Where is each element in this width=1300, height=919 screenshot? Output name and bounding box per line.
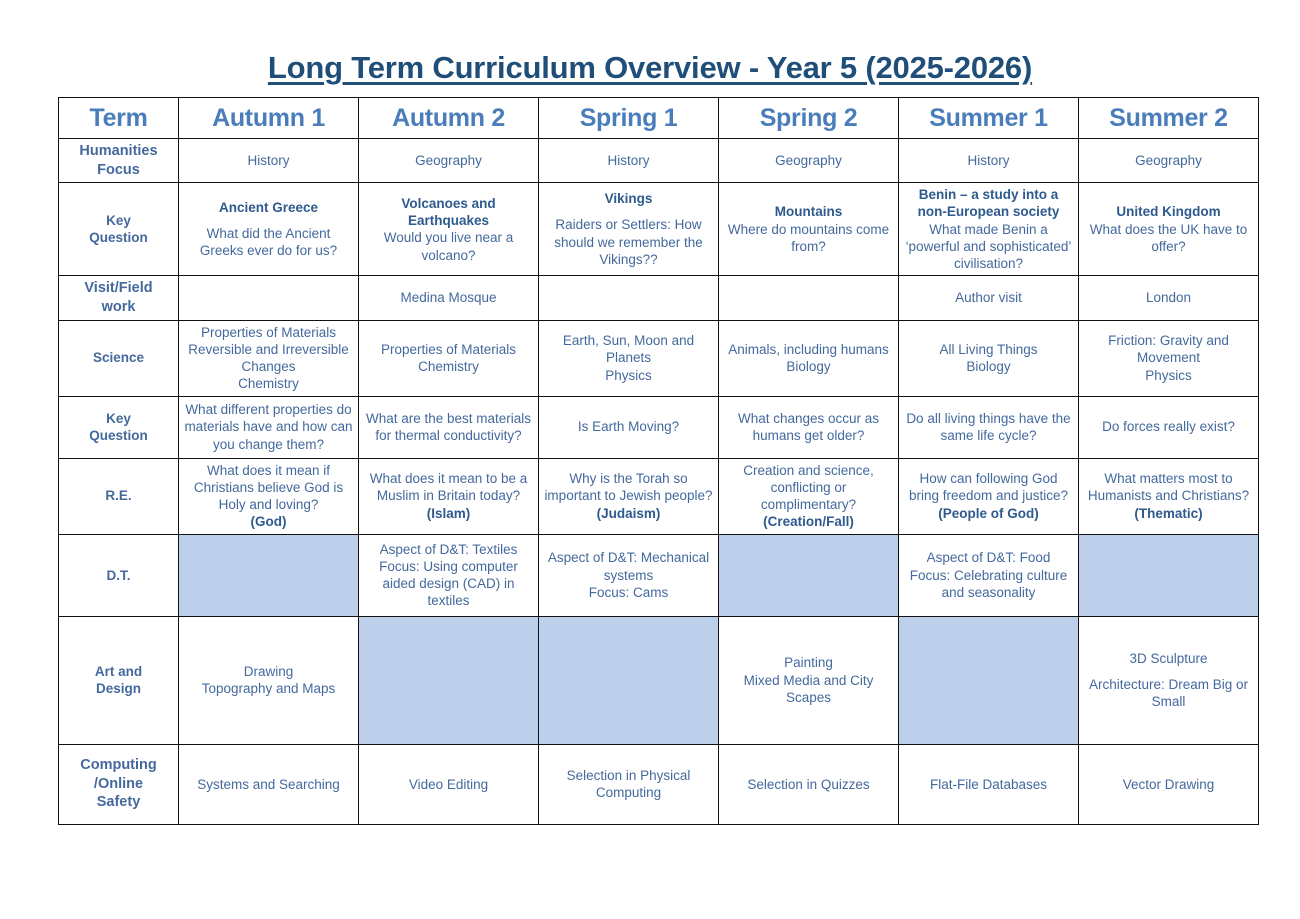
cell-key-question-autumn-1: What different properties do materials h… [179,396,359,458]
cell-science-summer-1: All Living ThingsBiology [899,320,1079,396]
cell-d-t-summer-1: Aspect of D&T: FoodFocus: Celebrating cu… [899,534,1079,616]
cell-d-t-spring-1: Aspect of D&T: Mechanical systemsFocus: … [539,534,719,616]
cell-text: Video Editing [363,776,534,793]
cell-key-question-autumn-2: Volcanoes and EarthquakesWould you live … [359,183,539,276]
cell-text: Architecture: Dream Big or Small [1083,676,1254,711]
cell-topic: Vikings [543,190,714,207]
row-label-d-t: D.T. [59,534,179,616]
table-row: R.E.What does it mean if Christians beli… [59,458,1259,534]
curriculum-table: TermAutumn 1Autumn 2Spring 1Spring 2Summ… [58,97,1259,825]
cell-tail-label: (God) [183,513,354,530]
row-label-line: D.T. [63,567,174,584]
cell-text: Chemistry [183,375,354,392]
cell-text: Do all living things have the same life … [903,410,1074,445]
cell-r-e-autumn-1: What does it mean if Christians believe … [179,458,359,534]
cell-art-and-design-autumn-1: DrawingTopography and Maps [179,616,359,744]
cell-tail-label: (Creation/Fall) [723,513,894,530]
row-label-computing-online-safety: Computing/OnlineSafety [59,744,179,824]
row-label-line: work [63,298,174,317]
cell-d-t-summer-2 [1079,534,1259,616]
cell-text: London [1083,289,1254,306]
cell-text: Geography [1083,152,1254,169]
cell-text: Topography and Maps [183,680,354,697]
cell-text: Flat-File Databases [903,776,1074,793]
cell-text: Medina Mosque [363,289,534,306]
cell-text: Do forces really exist? [1083,418,1254,435]
cell-text: Aspect of D&T: Food [903,549,1074,566]
cell-text: Painting [723,654,894,671]
row-label-line: /Online [63,775,174,794]
cell-art-and-design-summer-2: 3D SculptureArchitecture: Dream Big or S… [1079,616,1259,744]
cell-text: Biology [903,358,1074,375]
cell-text: Selection in Physical Computing [543,767,714,802]
cell-d-t-autumn-2: Aspect of D&T: TextilesFocus: Using comp… [359,534,539,616]
table-row: Art andDesignDrawingTopography and MapsP… [59,616,1259,744]
row-label-line: Computing [63,756,174,775]
cell-text: Properties of Materials [363,341,534,358]
column-header-term: Term [59,98,179,139]
row-label-humanities-focus: HumanitiesFocus [59,139,179,183]
cell-text: Physics [543,367,714,384]
cell-text: Focus: Using computer aided design (CAD)… [363,558,534,610]
cell-text: Raiders or Settlers: How should we remem… [543,216,714,268]
cell-science-spring-1: Earth, Sun, Moon and PlanetsPhysics [539,320,719,396]
column-header-summer-1: Summer 1 [899,98,1079,139]
cell-text: Drawing [183,663,354,680]
cell-computing-online-safety-summer-1: Flat-File Databases [899,744,1079,824]
cell-key-question-summer-2: Do forces really exist? [1079,396,1259,458]
cell-text: History [903,152,1074,169]
cell-text: Biology [723,358,894,375]
row-label-line: Visit/Field [63,279,174,298]
column-header-autumn-2: Autumn 2 [359,98,539,139]
row-label-line: Design [63,680,174,697]
column-header-spring-1: Spring 1 [539,98,719,139]
cell-text: What made Benin a ‘powerful and sophisti… [903,221,1074,273]
cell-text: Vector Drawing [1083,776,1254,793]
row-label-line: Art and [63,663,174,680]
cell-visit-field-work-spring-2 [719,276,899,320]
row-label-art-and-design: Art andDesign [59,616,179,744]
cell-text: Aspect of D&T: Mechanical systems [543,549,714,584]
row-label-key-question: KeyQuestion [59,183,179,276]
cell-text: What are the best materials for thermal … [363,410,534,445]
page-title: Long Term Curriculum Overview - Year 5 (… [0,50,1300,86]
cell-text: Reversible and Irreversible Changes [183,341,354,376]
cell-science-summer-2: Friction: Gravity and MovementPhysics [1079,320,1259,396]
cell-text: 3D Sculpture [1083,650,1254,667]
cell-spacer [543,207,714,216]
cell-computing-online-safety-spring-1: Selection in Physical Computing [539,744,719,824]
row-label-line: Safety [63,793,174,812]
cell-visit-field-work-summer-2: London [1079,276,1259,320]
cell-text: Geography [723,152,894,169]
row-label-key-question: KeyQuestion [59,396,179,458]
table-header-row: TermAutumn 1Autumn 2Spring 1Spring 2Summ… [59,98,1259,139]
cell-text: How can following God bring freedom and … [903,470,1074,505]
cell-text: Focus: Cams [543,584,714,601]
row-label-line: Question [63,229,174,246]
cell-science-autumn-2: Properties of MaterialsChemistry [359,320,539,396]
cell-humanities-focus-autumn-2: Geography [359,139,539,183]
row-label-line: Key [63,212,174,229]
cell-computing-online-safety-autumn-1: Systems and Searching [179,744,359,824]
cell-art-and-design-spring-1 [539,616,719,744]
cell-key-question-spring-1: Is Earth Moving? [539,396,719,458]
table-row: D.T.Aspect of D&T: TextilesFocus: Using … [59,534,1259,616]
cell-computing-online-safety-autumn-2: Video Editing [359,744,539,824]
cell-text: Systems and Searching [183,776,354,793]
cell-text: What different properties do materials h… [183,401,354,453]
cell-text: Physics [1083,367,1254,384]
cell-r-e-summer-2: What matters most to Humanists and Chris… [1079,458,1259,534]
cell-key-question-autumn-1: Ancient GreeceWhat did the Ancient Greek… [179,183,359,276]
cell-text: History [543,152,714,169]
cell-art-and-design-spring-2: PaintingMixed Media and City Scapes [719,616,899,744]
cell-humanities-focus-autumn-1: History [179,139,359,183]
cell-key-question-spring-1: VikingsRaiders or Settlers: How should w… [539,183,719,276]
cell-humanities-focus-summer-2: Geography [1079,139,1259,183]
cell-r-e-spring-1: Why is the Torah so important to Jewish … [539,458,719,534]
cell-science-spring-2: Animals, including humansBiology [719,320,899,396]
row-label-line: Focus [63,161,174,180]
column-header-autumn-1: Autumn 1 [179,98,359,139]
cell-key-question-spring-2: What changes occur as humans get older? [719,396,899,458]
cell-key-question-autumn-2: What are the best materials for thermal … [359,396,539,458]
table-row: KeyQuestionWhat different properties do … [59,396,1259,458]
cell-tail-label: (Thematic) [1083,505,1254,522]
cell-computing-online-safety-spring-2: Selection in Quizzes [719,744,899,824]
cell-text: Where do mountains come from? [723,221,894,256]
cell-humanities-focus-summer-1: History [899,139,1079,183]
cell-visit-field-work-autumn-1 [179,276,359,320]
cell-text: What does it mean if Christians believe … [183,462,354,514]
cell-key-question-spring-2: MountainsWhere do mountains come from? [719,183,899,276]
cell-text: Chemistry [363,358,534,375]
cell-d-t-autumn-1 [179,534,359,616]
cell-tail-label: (Judaism) [543,505,714,522]
cell-text: What changes occur as humans get older? [723,410,894,445]
cell-text: What does the UK have to offer? [1083,221,1254,256]
column-header-spring-2: Spring 2 [719,98,899,139]
row-label-line: Science [63,349,174,366]
cell-humanities-focus-spring-1: History [539,139,719,183]
cell-topic: Benin – a study into a non-European soci… [903,186,1074,221]
table-row: KeyQuestionAncient GreeceWhat did the An… [59,183,1259,276]
row-label-line: Key [63,410,174,427]
cell-key-question-summer-1: Benin – a study into a non-European soci… [899,183,1079,276]
cell-topic: United Kingdom [1083,203,1254,220]
cell-text: What matters most to Humanists and Chris… [1083,470,1254,505]
cell-computing-online-safety-summer-2: Vector Drawing [1079,744,1259,824]
row-label-line: R.E. [63,487,174,504]
cell-text: Animals, including humans [723,341,894,358]
cell-topic: Ancient Greece [183,199,354,216]
cell-text: Creation and science, conflicting or com… [723,462,894,514]
cell-art-and-design-summer-1 [899,616,1079,744]
cell-text: Friction: Gravity and Movement [1083,332,1254,367]
cell-d-t-spring-2 [719,534,899,616]
cell-r-e-autumn-2: What does it mean to be a Muslim in Brit… [359,458,539,534]
cell-text: Properties of Materials [183,324,354,341]
row-label-science: Science [59,320,179,396]
row-label-line: Question [63,427,174,444]
table-row: Computing/OnlineSafetySystems and Search… [59,744,1259,824]
cell-text: All Living Things [903,341,1074,358]
cell-key-question-summer-1: Do all living things have the same life … [899,396,1079,458]
cell-text: Mixed Media and City Scapes [723,672,894,707]
cell-text: Is Earth Moving? [543,418,714,435]
row-label-visit-field-work: Visit/Fieldwork [59,276,179,320]
row-label-line: Humanities [63,142,174,161]
cell-text: Selection in Quizzes [723,776,894,793]
row-label-r-e: R.E. [59,458,179,534]
cell-art-and-design-autumn-2 [359,616,539,744]
cell-text: Aspect of D&T: Textiles [363,541,534,558]
cell-text: Focus: Celebrating culture and seasonali… [903,567,1074,602]
cell-topic: Volcanoes and Earthquakes [363,195,534,230]
cell-text: Would you live near a volcano? [363,229,534,264]
document-page: Long Term Curriculum Overview - Year 5 (… [0,0,1300,919]
cell-text: Geography [363,152,534,169]
table-row: ScienceProperties of MaterialsReversible… [59,320,1259,396]
column-header-summer-2: Summer 2 [1079,98,1259,139]
cell-r-e-summer-1: How can following God bring freedom and … [899,458,1079,534]
cell-text: Earth, Sun, Moon and Planets [543,332,714,367]
cell-text: History [183,152,354,169]
cell-r-e-spring-2: Creation and science, conflicting or com… [719,458,899,534]
cell-text: What did the Ancient Greeks ever do for … [183,225,354,260]
cell-visit-field-work-spring-1 [539,276,719,320]
cell-key-question-summer-2: United KingdomWhat does the UK have to o… [1079,183,1259,276]
cell-science-autumn-1: Properties of MaterialsReversible and Ir… [179,320,359,396]
table-row: HumanitiesFocusHistoryGeographyHistoryGe… [59,139,1259,183]
table-row: Visit/FieldworkMedina MosqueAuthor visit… [59,276,1259,320]
cell-humanities-focus-spring-2: Geography [719,139,899,183]
cell-spacer [1083,667,1254,676]
cell-text: What does it mean to be a Muslim in Brit… [363,470,534,505]
cell-text: Author visit [903,289,1074,306]
cell-topic: Mountains [723,203,894,220]
cell-visit-field-work-autumn-2: Medina Mosque [359,276,539,320]
cell-tail-label: (Islam) [363,505,534,522]
cell-visit-field-work-summer-1: Author visit [899,276,1079,320]
cell-spacer [183,216,354,225]
cell-tail-label: (People of God) [903,505,1074,522]
cell-text: Why is the Torah so important to Jewish … [543,470,714,505]
